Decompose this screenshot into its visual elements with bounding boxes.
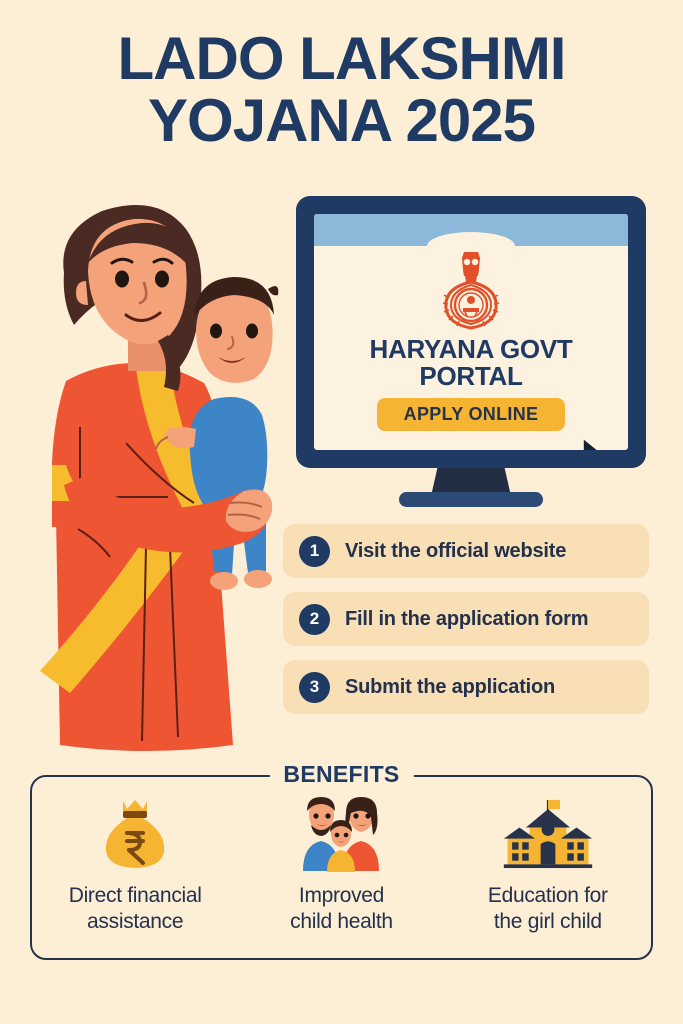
monitor-screen: HARYANA GOVT PORTAL APPLY ONLINE bbox=[314, 214, 628, 450]
step-number-badge: 1 bbox=[299, 536, 330, 567]
benefit-label-line-2: the girl child bbox=[488, 909, 608, 935]
benefit-label: Education for the girl child bbox=[488, 883, 608, 935]
step-label: Visit the official website bbox=[345, 540, 566, 563]
apply-online-button[interactable]: APPLY ONLINE bbox=[377, 398, 565, 431]
portal-title: HARYANA GOVT PORTAL bbox=[314, 336, 628, 390]
step-item-2[interactable]: 2 Fill in the application form bbox=[283, 592, 649, 646]
benefit-label-line-2: child health bbox=[290, 909, 393, 935]
benefit-item-child-health: Improved child health bbox=[238, 791, 444, 958]
school-building-icon bbox=[502, 791, 594, 873]
infographic-poster: LADO LAKSHMI YOJANA 2025 bbox=[0, 0, 683, 1024]
benefits-section: BENEFITS bbox=[30, 775, 653, 960]
benefit-label-line-1: Improved bbox=[290, 883, 393, 909]
monitor-frame: HARYANA GOVT PORTAL APPLY ONLINE bbox=[296, 196, 646, 468]
mouse-pointer-icon bbox=[580, 436, 614, 450]
benefit-label-line-1: Education for bbox=[488, 883, 608, 909]
benefit-label-line-2: assistance bbox=[69, 909, 202, 935]
page-title: LADO LAKSHMI YOJANA 2025 bbox=[0, 28, 683, 152]
benefit-label-line-1: Direct financial bbox=[69, 883, 202, 909]
benefit-item-financial: Direct financial assistance bbox=[32, 791, 238, 958]
title-line-1: LADO LAKSHMI bbox=[0, 28, 683, 90]
step-label: Fill in the application form bbox=[345, 608, 588, 631]
step-label: Submit the application bbox=[345, 676, 555, 699]
haryana-portal-monitor: HARYANA GOVT PORTAL APPLY ONLINE bbox=[296, 196, 646, 521]
haryana-government-emblem bbox=[434, 250, 508, 330]
step-number-badge: 3 bbox=[299, 672, 330, 703]
mother-holding-child-illustration bbox=[18, 185, 293, 760]
benefit-item-education: Education for the girl child bbox=[445, 791, 651, 958]
monitor-stand-base bbox=[399, 492, 543, 507]
browser-topbar bbox=[314, 214, 628, 246]
benefit-label: Improved child health bbox=[290, 883, 393, 935]
family-icon bbox=[295, 791, 387, 873]
benefit-label: Direct financial assistance bbox=[69, 883, 202, 935]
title-line-2: YOJANA 2025 bbox=[0, 90, 683, 152]
step-item-3[interactable]: 3 Submit the application bbox=[283, 660, 649, 714]
portal-title-line-2: PORTAL bbox=[314, 363, 628, 390]
step-item-1[interactable]: 1 Visit the official website bbox=[283, 524, 649, 578]
step-number-badge: 2 bbox=[299, 604, 330, 635]
money-bag-rupee-icon bbox=[89, 791, 181, 873]
portal-title-line-1: HARYANA GOVT bbox=[314, 336, 628, 363]
benefits-heading: BENEFITS bbox=[269, 761, 413, 788]
application-steps-list: 1 Visit the official website 2 Fill in t… bbox=[283, 524, 649, 728]
